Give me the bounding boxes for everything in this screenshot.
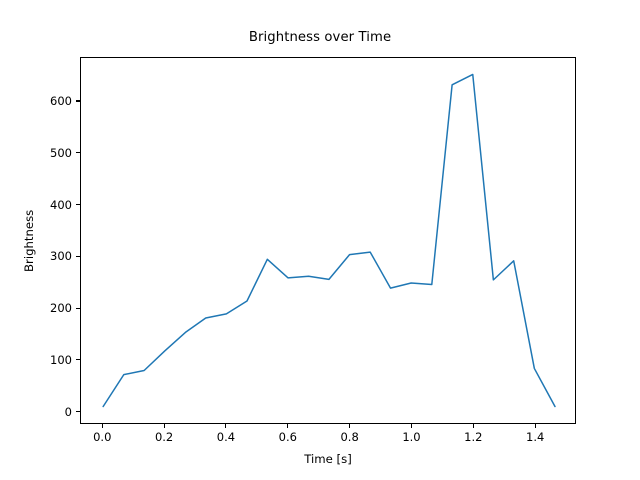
x-axis-tick-label: 0.6 (258, 430, 318, 444)
y-axis-tick-label: 500 (12, 146, 72, 160)
x-axis-tick-mark (535, 424, 536, 428)
x-axis-tick-label: 0.2 (134, 430, 194, 444)
x-axis-tick-label: 1.2 (443, 430, 503, 444)
x-axis-label: Time [s] (80, 452, 576, 466)
y-axis-tick-label: 600 (12, 94, 72, 108)
plot-area (80, 57, 576, 424)
x-axis-tick-mark (287, 424, 288, 428)
x-axis-tick-mark (164, 424, 165, 428)
x-axis-tick-label: 1.4 (505, 430, 565, 444)
y-axis-tick-label: 300 (12, 249, 72, 263)
x-axis-tick-mark (473, 424, 474, 428)
x-axis-tick-mark (411, 424, 412, 428)
line-series-svg (81, 58, 575, 423)
x-axis-tick-mark (102, 424, 103, 428)
x-axis-tick-label: 1.0 (381, 430, 441, 444)
x-axis-tick-label: 0.4 (196, 430, 256, 444)
y-axis-tick-label: 200 (12, 301, 72, 315)
y-axis-tick-label: 400 (12, 198, 72, 212)
figure-canvas: Brightness over Time Brightness Time [s]… (0, 0, 640, 480)
x-axis-tick-mark (349, 424, 350, 428)
x-axis-tick-mark (225, 424, 226, 428)
chart-title: Brightness over Time (0, 30, 640, 45)
x-axis-tick-label: 0.8 (320, 430, 380, 444)
line-series-brightness (103, 74, 555, 406)
x-axis-tick-label: 0.0 (72, 430, 132, 444)
y-axis-tick-label: 100 (12, 353, 72, 367)
y-axis-tick-label: 0 (12, 405, 72, 419)
